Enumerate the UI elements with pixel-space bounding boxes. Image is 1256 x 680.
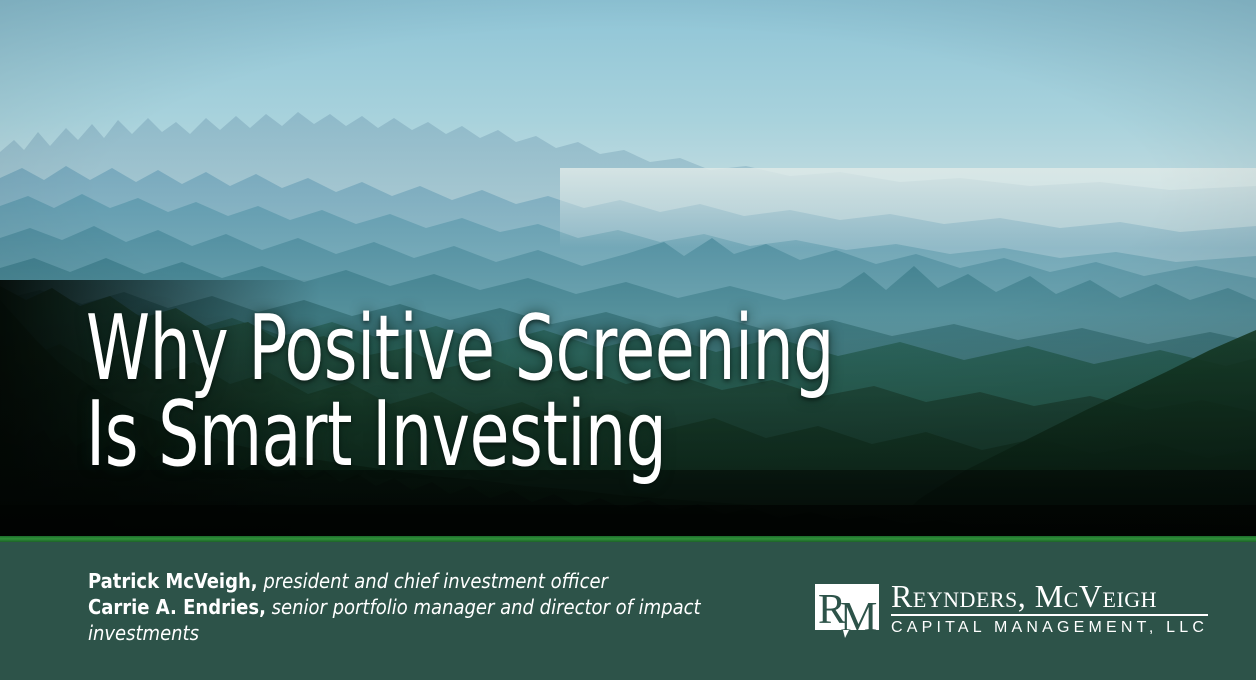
- presenter-2-name: Carrie A. Endries,: [88, 595, 266, 619]
- logo-wordmark: Reynders, McVeigh CAPITAL MANAGEMENT, LL…: [891, 572, 1208, 637]
- presenter-credits: Patrick McVeigh, president and chief inv…: [88, 568, 708, 646]
- presenter-1-role: president and chief investment officer: [263, 569, 608, 593]
- title-line-2: Is Smart Investing: [86, 392, 854, 478]
- page-title: Why Positive Screening Is Smart Investin…: [86, 306, 1046, 478]
- logo-divider: [891, 614, 1208, 616]
- logo-company-name: Reynders, McVeigh: [891, 580, 1208, 612]
- logo-tagline: CAPITAL MANAGEMENT, LLC: [891, 619, 1208, 637]
- presenter-2: Carrie A. Endries, senior portfolio mana…: [88, 594, 708, 646]
- title-line-1: Why Positive Screening: [86, 306, 854, 392]
- footer-bar: Patrick McVeigh, president and chief inv…: [0, 542, 1256, 680]
- company-logo: R M Reynders, McVeigh CAPITAL MANAGEMENT…: [815, 572, 1208, 644]
- rm-monogram-icon: R M: [815, 584, 879, 632]
- title-slide: Why Positive Screening Is Smart Investin…: [0, 0, 1256, 680]
- presenter-1: Patrick McVeigh, president and chief inv…: [88, 568, 708, 594]
- presenter-1-name: Patrick McVeigh,: [88, 569, 258, 593]
